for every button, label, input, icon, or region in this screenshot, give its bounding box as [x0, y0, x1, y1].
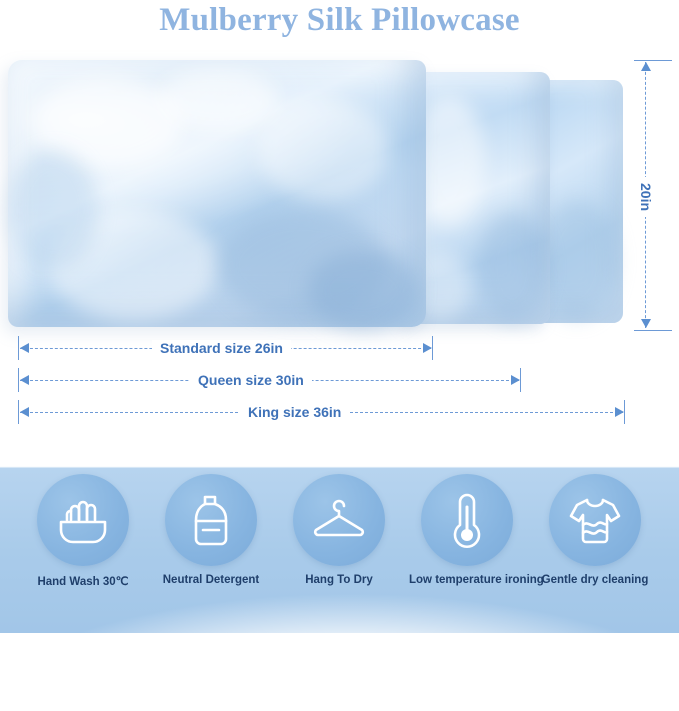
care-label-hang-dry: Hang To Dry	[281, 574, 397, 586]
queen-dim-arrow-right	[511, 375, 520, 385]
king-dim-right-cap	[624, 400, 625, 424]
vertical-dim-arrow-down	[641, 319, 651, 328]
standard-dim-left-cap	[18, 336, 19, 360]
king-dim-arrow-right	[615, 407, 624, 417]
care-item-ironing: Low temperature ironing	[409, 474, 525, 586]
iron-low-temperature-icon	[421, 474, 513, 566]
king-dim-arrow-left	[20, 407, 29, 417]
hand-wash-icon	[37, 474, 129, 566]
standard-size-label: Standard size 26in	[152, 340, 291, 356]
care-item-hang-dry: Hang To Dry	[281, 474, 397, 586]
care-label-detergent: Neutral Detergent	[153, 574, 269, 586]
middle-pillow	[405, 72, 550, 324]
queen-dim-arrow-left	[20, 375, 29, 385]
care-item-hand-wash: Hand Wash 30℃	[25, 474, 141, 588]
standard-dim-arrow-right	[423, 343, 432, 353]
queen-size-label: Queen size 30in	[190, 372, 312, 388]
vertical-dim-arrow-up	[641, 62, 651, 71]
standard-dim-right-cap	[432, 336, 433, 360]
front-pillow	[8, 60, 426, 327]
care-item-detergent: Neutral Detergent	[153, 474, 269, 586]
care-label-dry-cleaning: Gentle dry cleaning	[537, 574, 653, 586]
detergent-bottle-icon	[165, 474, 257, 566]
king-dim-left-cap	[18, 400, 19, 424]
queen-dim-left-cap	[18, 368, 19, 392]
gentle-dry-cleaning-icon	[549, 474, 641, 566]
care-label-ironing: Low temperature ironing	[409, 574, 525, 586]
standard-dim-arrow-left	[20, 343, 29, 353]
care-item-dry-cleaning: Gentle dry cleaning	[537, 474, 653, 586]
king-size-label: King size 36in	[240, 404, 349, 420]
care-label-hand-wash: Hand Wash 30℃	[25, 574, 141, 588]
vertical-dim-top-cap	[634, 60, 672, 61]
page-title: Mulberry Silk Pillowcase	[0, 2, 679, 39]
vertical-dim-bottom-cap	[634, 330, 672, 331]
product-image	[0, 58, 679, 333]
clothes-hanger-icon	[293, 474, 385, 566]
height-dimension-label: 20in	[638, 177, 654, 217]
queen-dim-right-cap	[520, 368, 521, 392]
care-instructions-band: Hand Wash 30℃ Neutral Detergent Hang To …	[0, 452, 679, 633]
